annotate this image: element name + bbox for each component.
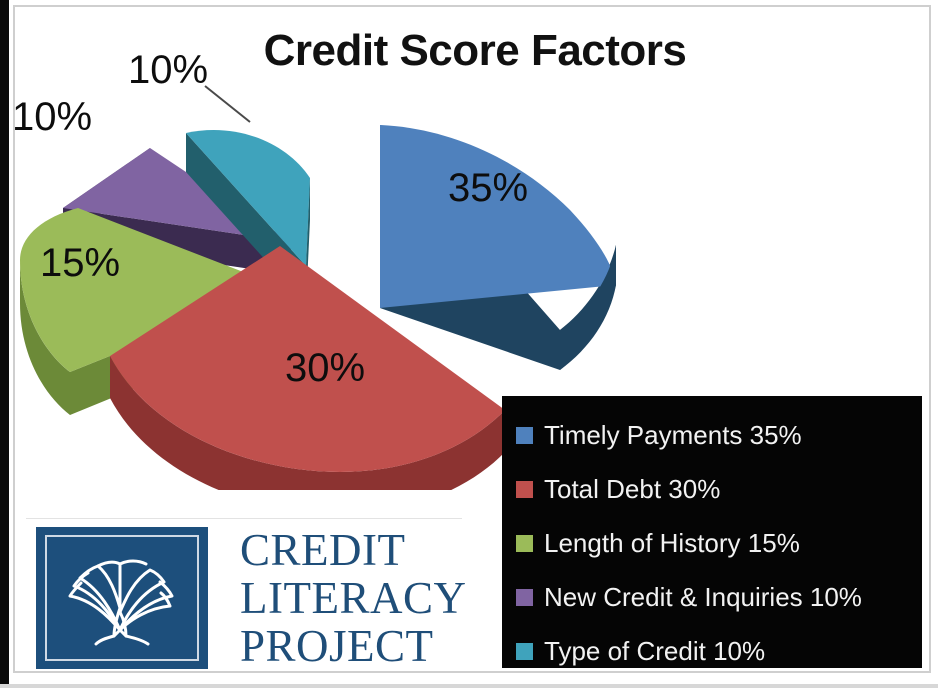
legend-length-of-history[interactable]: Length of History 15%: [516, 516, 922, 570]
logo-divider-rule: [26, 518, 462, 519]
pie-slice-timely-payments[interactable]: [380, 125, 616, 370]
organization-logo: CREDIT LITERACY PROJECT: [36, 526, 466, 670]
logo-wordmark-line-2: LITERACY: [240, 574, 466, 622]
legend-swatch-total-debt: [516, 481, 533, 498]
pie-label-type-of-credit: 10%: [128, 50, 208, 90]
legend-label-timely-payments: Timely Payments 35%: [544, 422, 802, 448]
chart-legend: Timely Payments 35% Total Debt 30% Lengt…: [502, 396, 922, 668]
legend-label-length-of-history: Length of History 15%: [544, 530, 800, 556]
logo-wordmark-line-3: PROJECT: [240, 622, 466, 670]
legend-timely-payments[interactable]: Timely Payments 35%: [516, 408, 922, 462]
logo-wordmark-line-1: CREDIT: [240, 526, 466, 574]
slide-canvas: Credit Score Factors: [0, 0, 938, 688]
legend-swatch-length-of-history: [516, 535, 533, 552]
pie-label-total-debt: 30%: [285, 348, 365, 388]
pie-label-timely-payments: 35%: [448, 168, 528, 208]
legend-label-type-of-credit: Type of Credit 10%: [544, 638, 765, 664]
logo-wordmark: CREDIT LITERACY PROJECT: [240, 526, 466, 670]
pie-slice-timely-payments-top: [380, 125, 616, 308]
slide-bottom-border: [0, 684, 938, 688]
legend-swatch-type-of-credit: [516, 643, 533, 660]
legend-new-credit[interactable]: New Credit & Inquiries 10%: [516, 570, 922, 624]
leader-line-type-of-credit: [205, 86, 250, 122]
logo-mark: [36, 527, 208, 669]
legend-swatch-timely-payments: [516, 427, 533, 444]
pie-label-length-of-history: 15%: [40, 243, 120, 283]
open-book-icon: [56, 546, 188, 650]
legend-swatch-new-credit: [516, 589, 533, 606]
legend-label-new-credit: New Credit & Inquiries 10%: [544, 584, 862, 610]
pie-label-new-credit: 10%: [12, 97, 92, 137]
legend-total-debt[interactable]: Total Debt 30%: [516, 462, 922, 516]
legend-type-of-credit[interactable]: Type of Credit 10%: [516, 624, 922, 678]
legend-label-total-debt: Total Debt 30%: [544, 476, 720, 502]
